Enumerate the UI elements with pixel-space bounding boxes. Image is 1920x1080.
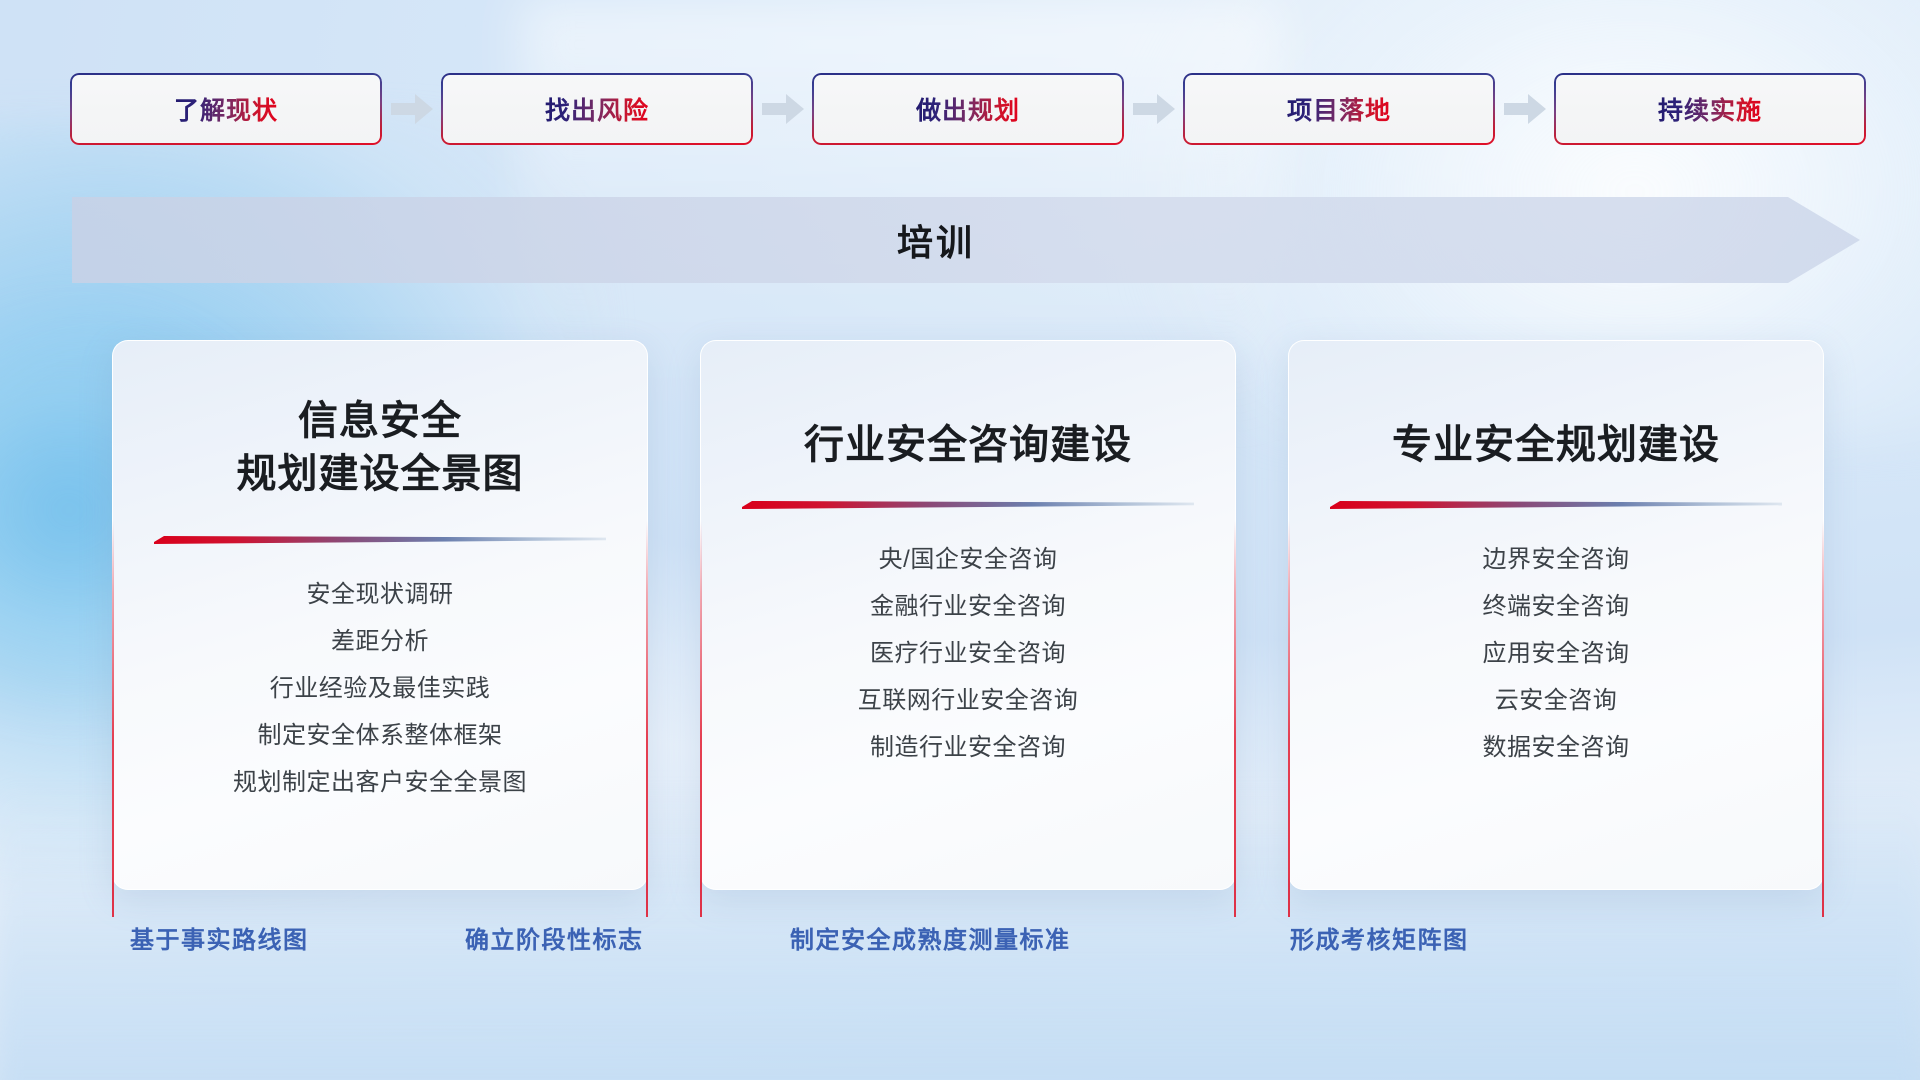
process-step-label: 了解现状 xyxy=(174,91,278,127)
process-step-label: 找出风险 xyxy=(545,91,649,127)
list-item: 央/国企安全咨询 xyxy=(879,542,1058,578)
list-item: 边界安全咨询 xyxy=(1483,542,1630,578)
bottom-label: 基于事实路线图 xyxy=(130,920,309,955)
bottom-label: 形成考核矩阵图 xyxy=(1290,920,1469,955)
banner-title: 培训 xyxy=(72,197,1860,283)
list-item: 安全现状调研 xyxy=(307,577,454,613)
card-title: 专业安全规划建设 xyxy=(1289,419,1823,472)
process-step-2[interactable]: 找出风险 xyxy=(441,73,753,145)
card-industry-security-consulting[interactable]: 行业安全咨询建设 央/国企安全咨询 金融行业安全咨询 xyxy=(700,340,1236,890)
list-item: 制定安全体系整体框架 xyxy=(258,718,503,754)
process-step-5[interactable]: 持续实施 xyxy=(1554,73,1866,145)
process-arrow-icon-2 xyxy=(753,73,812,145)
process-arrow-icon-1 xyxy=(382,73,441,145)
card-item-list: 央/国企安全咨询 金融行业安全咨询 医疗行业安全咨询 互联网行业安全咨询 制造行… xyxy=(701,542,1235,766)
list-item: 医疗行业安全咨询 xyxy=(870,636,1066,672)
bottom-label: 确立阶段性标志 xyxy=(465,920,644,955)
card-title: 信息安全 规划建设全景图 xyxy=(113,395,647,501)
card-divider-icon xyxy=(1330,498,1782,514)
list-item: 规划制定出客户安全全景图 xyxy=(233,765,527,801)
list-item: 数据安全咨询 xyxy=(1483,730,1630,766)
card-information-security-blueprint[interactable]: 信息安全 规划建设全景图 安全现状调研 差距分析 行 xyxy=(112,340,648,890)
list-item: 制造行业安全咨询 xyxy=(870,730,1066,766)
process-step-1[interactable]: 了解现状 xyxy=(70,73,382,145)
process-step-label: 持续实施 xyxy=(1658,91,1762,127)
card-professional-security-planning[interactable]: 专业安全规划建设 边界安全咨询 终端安全咨询 应用安 xyxy=(1288,340,1824,890)
process-step-row: 了解现状 找出风险 做出规划 项目落地 持续实施 xyxy=(70,73,1860,145)
list-item: 行业经验及最佳实践 xyxy=(270,671,491,707)
process-step-3[interactable]: 做出规划 xyxy=(812,73,1124,145)
list-item: 互联网行业安全咨询 xyxy=(858,683,1079,719)
process-step-label: 做出规划 xyxy=(916,91,1020,127)
card-divider-icon xyxy=(742,498,1194,514)
bottom-label: 制定安全成熟度测量标准 xyxy=(790,920,1071,955)
process-arrow-icon-4 xyxy=(1495,73,1554,145)
card-row: 信息安全 规划建设全景图 安全现状调研 差距分析 行 xyxy=(0,340,1920,890)
list-item: 应用安全咨询 xyxy=(1483,636,1630,672)
training-banner: 培训 xyxy=(72,197,1860,283)
card-divider-icon xyxy=(154,533,606,549)
card-item-list: 边界安全咨询 终端安全咨询 应用安全咨询 云安全咨询 数据安全咨询 xyxy=(1289,542,1823,766)
card-title: 行业安全咨询建设 xyxy=(701,419,1235,472)
process-arrow-icon-3 xyxy=(1124,73,1183,145)
process-step-label: 项目落地 xyxy=(1287,91,1391,127)
list-item: 终端安全咨询 xyxy=(1483,589,1630,625)
list-item: 金融行业安全咨询 xyxy=(870,589,1066,625)
list-item: 云安全咨询 xyxy=(1495,683,1618,719)
card-item-list: 安全现状调研 差距分析 行业经验及最佳实践 制定安全体系整体框架 规划制定出客户… xyxy=(113,577,647,801)
bottom-label-row: 基于事实路线图 确立阶段性标志 制定安全成熟度测量标准 形成考核矩阵图 xyxy=(0,920,1920,970)
list-item: 差距分析 xyxy=(331,624,429,660)
process-step-4[interactable]: 项目落地 xyxy=(1183,73,1495,145)
